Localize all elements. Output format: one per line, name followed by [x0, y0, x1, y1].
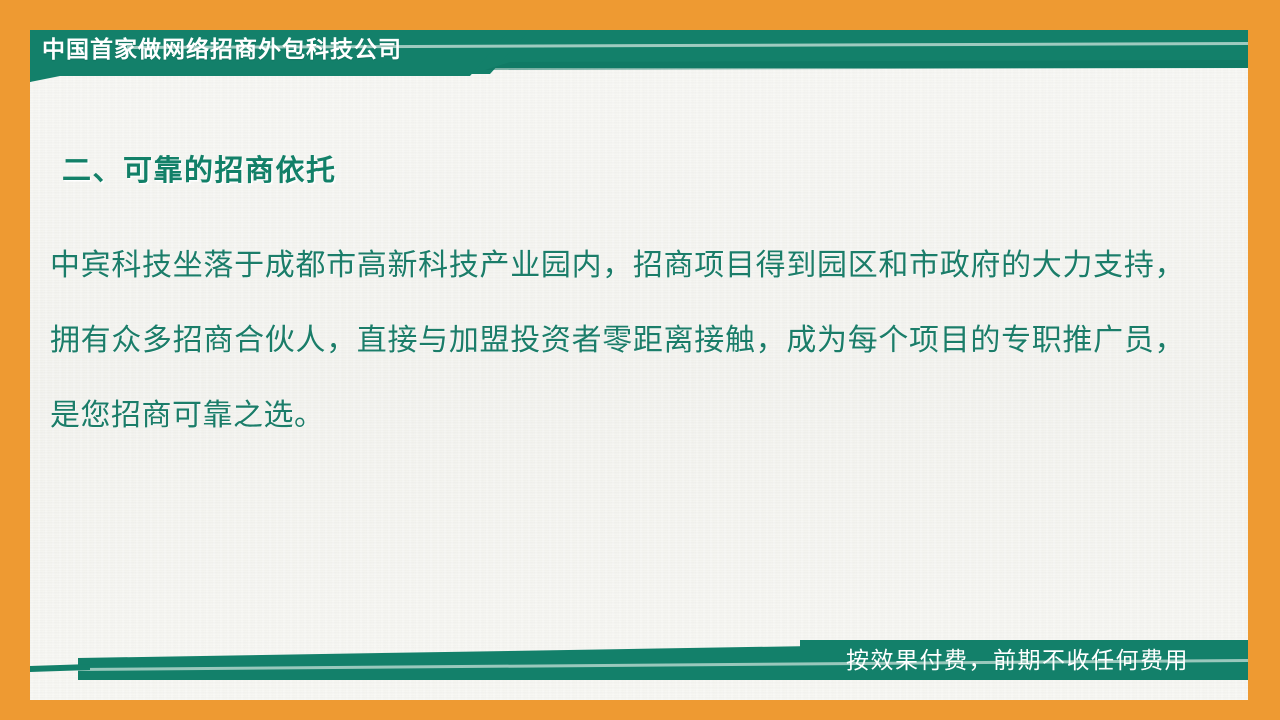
footer-tagline: 按效果付费，前期不收任何费用 [846, 649, 1189, 672]
page-title: 二、可靠的招商依托 [62, 154, 337, 189]
header-banner-text: 中国首家做网络招商外包科技公司 [42, 38, 402, 61]
body-paragraph: 中宾科技坐落于成都市高新科技产业园内，招商项目得到园区和市政府的大力支持，拥有众… [50, 228, 1185, 453]
presentation-slide: 中国首家做网络招商外包科技公司 二、可靠的招商依托 中宾科技坐落于成都市高新科技… [0, 0, 1280, 720]
frame-border-right [1248, 0, 1280, 720]
frame-border-bottom [0, 700, 1280, 720]
frame-border-left [0, 0, 30, 720]
frame-border-top [0, 0, 1280, 30]
